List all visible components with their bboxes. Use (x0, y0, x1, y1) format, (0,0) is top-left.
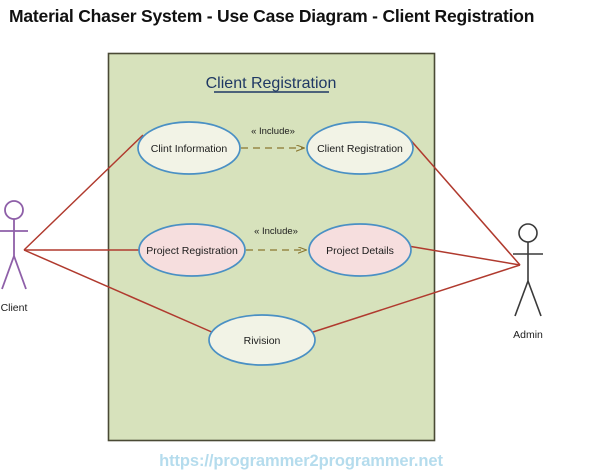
actor-leg-right-icon (528, 281, 541, 316)
actor-leg-right-icon (14, 256, 26, 289)
use-case-client-registration[interactable]: Client Registration (307, 122, 413, 174)
use-case-diagram: Client Registration « Include» « Include… (0, 0, 602, 476)
system-boundary-title: Client Registration (206, 75, 337, 92)
actor-head-icon (5, 201, 23, 219)
actor-leg-left-icon (515, 281, 528, 316)
use-case-label: Client Registration (317, 143, 403, 155)
use-case-project-registration[interactable]: Project Registration (139, 224, 245, 276)
actor-label: Client (1, 302, 28, 314)
actor-label: Admin (513, 329, 543, 341)
use-case-clint-information[interactable]: Clint Information (138, 122, 240, 174)
actor-head-icon (519, 224, 537, 242)
use-case-label: Clint Information (151, 143, 228, 155)
use-case-label: Project Registration (146, 245, 238, 257)
actor-admin[interactable]: Admin (513, 224, 543, 341)
use-case-label: Rivision (244, 335, 281, 347)
diagram-page: Material Chaser System - Use Case Diagra… (0, 0, 602, 476)
use-case-project-details[interactable]: Project Details (309, 224, 411, 276)
use-case-rivision[interactable]: Rivision (209, 315, 315, 365)
actor-leg-left-icon (2, 256, 14, 289)
footer-watermark-url: https://programmer2programmer.net (0, 452, 602, 471)
actor-client[interactable]: Client (0, 201, 28, 314)
include-label-client: « Include» (251, 126, 295, 137)
include-label-project: « Include» (254, 226, 298, 237)
use-case-label: Project Details (326, 245, 394, 257)
